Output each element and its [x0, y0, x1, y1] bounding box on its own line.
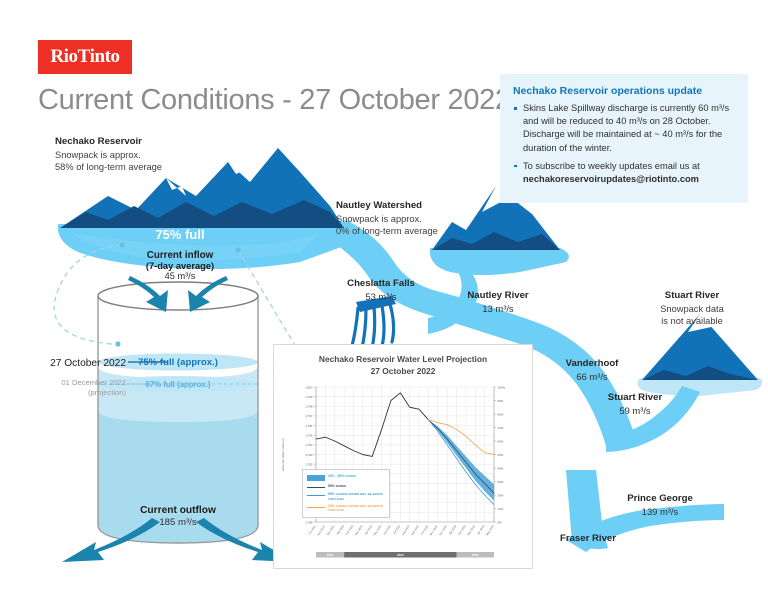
- svg-text:40%: 40%: [498, 466, 504, 470]
- svg-text:90%: 90%: [498, 399, 504, 403]
- svg-text:Apr 2023: Apr 2023: [476, 524, 486, 536]
- inflow-subtitle: (7-day average): [112, 261, 248, 271]
- svg-text:1,799: 1,799: [305, 395, 313, 399]
- tank-projection-level-value: 67% full (approx.): [122, 380, 234, 389]
- brand-wordmark: RioTinto: [50, 46, 119, 68]
- svg-text:Oct 2022: Oct 2022: [420, 524, 430, 536]
- stuart-snowpack-line2: is not available: [640, 315, 744, 328]
- legend-item-1: 50% RANGE: [307, 484, 385, 490]
- svg-text:70%: 70%: [498, 426, 504, 430]
- vanderhoof-name: Vanderhoof: [552, 358, 632, 371]
- legend-label-3: 10% CHANCE WATER WILL BE ABOVE THIS LEVE…: [328, 504, 385, 513]
- update-bullet-discharge-text: Skins Lake Spillway discharge is current…: [523, 103, 729, 153]
- update-bullet-subscribe: To subscribe to weekly updates email us …: [513, 160, 735, 186]
- station-label-fraser-river: Fraser River: [545, 533, 631, 546]
- chart-title: Nechako Reservoir Water Level Projection: [274, 354, 532, 366]
- page-title: Current Conditions - 27 October 2022: [38, 84, 511, 117]
- svg-text:2023: 2023: [472, 553, 479, 557]
- nautley-river-name: Nautley River: [452, 290, 544, 303]
- outflow-value: 185 m³/s: [104, 517, 252, 528]
- current-inflow-label: Current inflow (7-day average) 45 m³/s: [112, 250, 248, 281]
- svg-text:10%: 10%: [498, 507, 504, 511]
- legend-item-0: 20% - 80% RANGE: [307, 474, 385, 481]
- nechako-reservoir-label: Nechako Reservoir Snowpack is approx. 58…: [55, 136, 215, 174]
- legend-label-1: 50% RANGE: [328, 484, 346, 489]
- svg-text:80%: 80%: [498, 412, 504, 416]
- station-label-stuart-river: Stuart River 59 m³/s: [590, 392, 680, 416]
- station-label-cheslatta-falls: Cheslatta Falls 53 m³/s: [336, 278, 426, 302]
- legend-item-3: 10% CHANCE WATER WILL BE ABOVE THIS LEVE…: [307, 504, 385, 513]
- svg-text:Jan 2022: Jan 2022: [335, 524, 345, 536]
- svg-text:May 2022: May 2022: [372, 524, 382, 536]
- reservoir-percent-full-badge: 75% full: [118, 226, 242, 244]
- chart-subtitle: 27 October 2022: [274, 366, 532, 378]
- legend-label-2: 90% CHANCE WATER WILL BE ABOVE THIS LEVE…: [328, 492, 385, 501]
- svg-text:Apr 2022: Apr 2022: [363, 524, 373, 536]
- legend-swatch-3: [307, 507, 325, 510]
- reservoir-percent-full-text: 75% full: [155, 227, 204, 242]
- stuart-watershed-name: Stuart River: [640, 290, 744, 303]
- nautley-river-value: 13 m³/s: [452, 303, 544, 314]
- svg-text:Dec 2022: Dec 2022: [438, 524, 448, 536]
- svg-text:Jun 2022: Jun 2022: [382, 524, 392, 536]
- connector-dot-2: [115, 341, 120, 346]
- stuart-snowpack-line1: Snowpack data: [640, 303, 744, 316]
- legend-swatch-1: [307, 487, 325, 490]
- nechako-snowpack-line1: Snowpack is approx.: [55, 149, 215, 162]
- water-level-projection-chart-card: Nechako Reservoir Water Level Projection…: [273, 344, 533, 569]
- svg-text:Oct 2021: Oct 2021: [307, 524, 317, 536]
- svg-text:Feb 2023: Feb 2023: [457, 524, 467, 536]
- svg-text:1,793: 1,793: [305, 453, 313, 457]
- reservoir-tank: [98, 282, 258, 543]
- outflow-title: Current outflow: [104, 505, 252, 516]
- svg-text:Dec 2021: Dec 2021: [326, 524, 336, 536]
- stuart-watershed-label: Stuart River Snowpack data is not availa…: [640, 290, 744, 328]
- svg-text:2022: 2022: [397, 553, 404, 557]
- vanderhoof-value: 66 m³/s: [552, 371, 632, 382]
- rio-tinto-logo: RioTinto: [38, 40, 132, 74]
- chart-title-block: Nechako Reservoir Water Level Projection…: [274, 354, 532, 377]
- update-bullet-list: Skins Lake Spillway discharge is current…: [513, 102, 735, 186]
- cheslatta-falls-name: Cheslatta Falls: [336, 278, 426, 291]
- tank-current-level-value: 75% full (approx.): [122, 357, 234, 368]
- tank-projection-note: (projection): [18, 388, 126, 398]
- current-outflow-label: Current outflow 185 m³/s: [104, 505, 252, 528]
- tank-projection-date: 01 December 2022: [18, 378, 126, 388]
- svg-text:Feb 2022: Feb 2022: [345, 524, 355, 536]
- station-label-prince-george: Prince George 139 m³/s: [610, 493, 710, 517]
- svg-text:1,797: 1,797: [305, 414, 313, 418]
- legend-item-2: 90% CHANCE WATER WILL BE ABOVE THIS LEVE…: [307, 492, 385, 501]
- update-bullet-subscribe-text: To subscribe to weekly updates email us …: [523, 161, 700, 171]
- svg-text:1,795: 1,795: [305, 434, 313, 438]
- svg-text:1,794: 1,794: [305, 443, 313, 447]
- operations-update-panel: Nechako Reservoir operations update Skin…: [500, 74, 748, 203]
- chart-legend: 20% - 80% RANGE50% RANGE90% CHANCE WATER…: [302, 469, 390, 518]
- legend-swatch-0: [307, 475, 325, 481]
- svg-text:Jul 2022: Jul 2022: [392, 524, 401, 535]
- legend-label-0: 20% - 80% RANGE: [328, 474, 356, 479]
- svg-text:100%: 100%: [498, 385, 506, 389]
- inflow-value: 45 m³/s: [112, 271, 248, 281]
- svg-text:20%: 20%: [498, 493, 504, 497]
- infographic-canvas: RioTinto Current Conditions - 27 October…: [0, 0, 768, 593]
- nautley-watershed-label: Nautley Watershed Snowpack is approx. 0%…: [336, 200, 486, 238]
- update-bullet-discharge: Skins Lake Spillway discharge is current…: [513, 102, 735, 155]
- tank-current-date-label: 27 October 2022: [22, 358, 126, 369]
- update-panel-title: Nechako Reservoir operations update: [513, 85, 735, 97]
- svg-text:50%: 50%: [498, 453, 504, 457]
- svg-text:0%: 0%: [498, 520, 503, 524]
- stuart-river-value: 59 m³/s: [590, 405, 680, 416]
- fraser-river-name: Fraser River: [545, 533, 631, 546]
- station-label-nautley-river: Nautley River 13 m³/s: [452, 290, 544, 314]
- nautley-watershed-name: Nautley Watershed: [336, 200, 486, 213]
- nautley-watershed-water: [430, 248, 569, 275]
- svg-text:May 2023: May 2023: [485, 524, 495, 536]
- tank-projection-date-label: 01 December 2022 (projection): [18, 378, 126, 397]
- inflow-title: Current inflow: [112, 250, 248, 261]
- cheslatta-falls-value: 53 m³/s: [336, 291, 426, 302]
- nautley-snowpack-line1: Snowpack is approx.: [336, 213, 486, 226]
- station-label-vanderhoof: Vanderhoof 66 m³/s: [552, 358, 632, 382]
- nechako-reservoir-name: Nechako Reservoir: [55, 136, 215, 149]
- svg-text:1,786: 1,786: [305, 520, 313, 524]
- nautley-snowpack-line2: 0% of long-term average: [336, 225, 486, 238]
- svg-text:60%: 60%: [498, 439, 504, 443]
- stuart-river-name: Stuart River: [590, 392, 680, 405]
- svg-text:1,800: 1,800: [305, 385, 313, 389]
- cheslatta-falls-graphic: [352, 296, 396, 348]
- svg-text:30%: 30%: [498, 480, 504, 484]
- svg-text:1,796: 1,796: [305, 424, 313, 428]
- svg-text:Mar 2022: Mar 2022: [354, 524, 364, 536]
- nechako-snowpack-line2: 58% of long-term average: [55, 161, 215, 174]
- legend-swatch-2: [307, 495, 325, 498]
- svg-text:Reservoir Water Level (m): Reservoir Water Level (m): [281, 438, 285, 471]
- svg-text:Aug 2022: Aug 2022: [401, 524, 411, 536]
- svg-text:Jan 2023: Jan 2023: [448, 524, 458, 536]
- prince-george-name: Prince George: [610, 493, 710, 506]
- svg-text:Sep 2022: Sep 2022: [410, 524, 420, 536]
- svg-text:Mar 2023: Mar 2023: [466, 524, 476, 536]
- prince-george-value: 139 m³/s: [610, 506, 710, 517]
- svg-text:Nov 2022: Nov 2022: [429, 524, 439, 536]
- svg-text:2021: 2021: [327, 553, 334, 557]
- subscribe-email-link[interactable]: nechakoreservoirupdates@riotinto.com: [523, 174, 699, 184]
- svg-text:1,792: 1,792: [305, 462, 313, 466]
- svg-text:Nov 2021: Nov 2021: [316, 524, 326, 536]
- svg-text:1,798: 1,798: [305, 405, 313, 409]
